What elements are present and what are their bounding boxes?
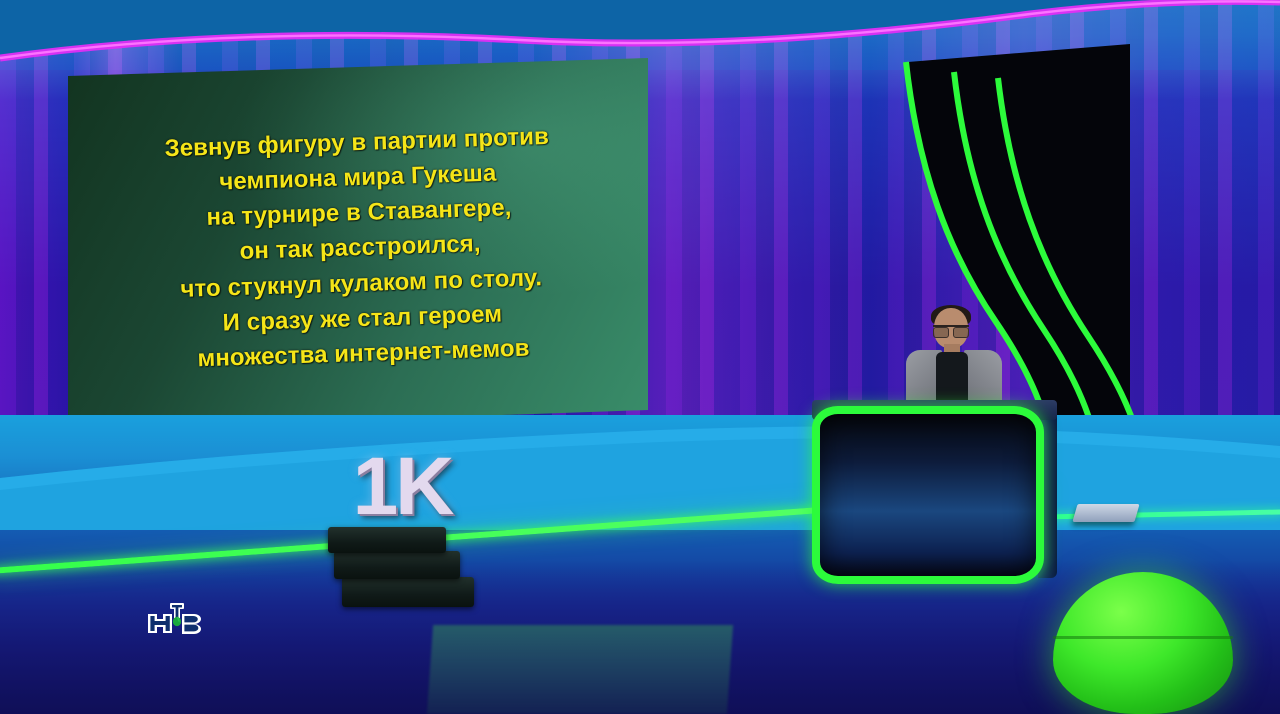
glasses-icon — [933, 325, 969, 336]
ntv-logo — [146, 602, 204, 644]
host-podium[interactable] — [812, 400, 1057, 590]
stage-prop-block — [1072, 504, 1139, 522]
question-board[interactable]: Зевнув фигуру в партии против чемпиона м… — [60, 58, 660, 430]
trophy-label: 1K — [332, 441, 472, 533]
trophy-1k-sculpture[interactable]: 1K — [316, 445, 486, 620]
broadcast-screenshot: Зевнув фигуру в партии против чемпиона м… — [0, 0, 1280, 714]
trophy-pedestal-middle — [334, 551, 460, 579]
ntv-logo-icon — [146, 602, 204, 644]
question-board-text: Зевнув фигуру в партии против чемпиона м… — [54, 48, 666, 439]
green-dome-seam — [1053, 636, 1233, 639]
trophy-pedestal-bottom — [342, 577, 474, 607]
show-host — [900, 308, 1010, 408]
podium-front-panel — [812, 406, 1044, 584]
board-floor-reflection — [427, 625, 733, 714]
question-line: он так расстроился, — [239, 228, 481, 269]
